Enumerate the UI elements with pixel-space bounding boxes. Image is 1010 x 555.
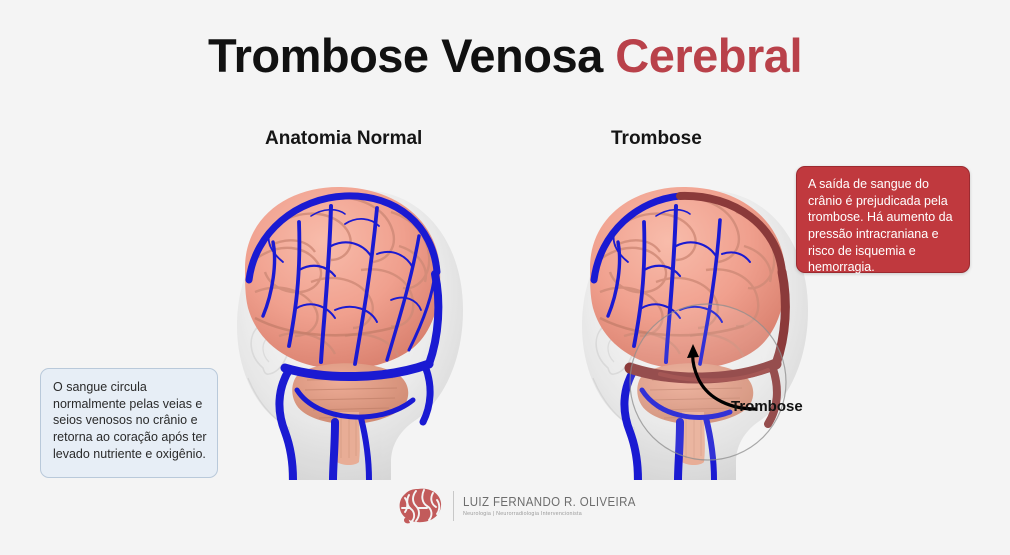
page-title: Trombose Venosa Cerebral [0,28,1010,83]
brainstem [336,412,360,465]
callout-thrombosis-consequences: A saída de sangue do crânio é prejudicad… [796,166,970,273]
brain-logo-icon [396,486,444,526]
panel-caption-thrombosis: Trombose [611,128,702,150]
logo-subtitle: Neurologia | Neurorradiologia Intervenci… [463,511,641,517]
title-main: Trombose Venosa [208,29,603,82]
logo-divider [453,491,454,521]
callout-normal-circulation: O sangue circula normalmente pelas veias… [40,368,218,478]
cerebral-venous-thrombosis-illustration [530,150,830,480]
logo-name: LUIZ FERNANDO R. OLIVEIRA [463,495,636,509]
callout-red-text: A saída de sangue do crânio é prejudicad… [808,177,953,274]
infographic-canvas: Trombose Venosa Cerebral Anatomia Normal… [0,0,1010,555]
callout-blue-text: O sangue circula normalmente pelas veias… [53,380,207,461]
panel-caption-normal: Anatomia Normal [265,128,422,150]
thrombose-annotation-label: Trombose [731,398,803,415]
logo-text-block: LUIZ FERNANDO R. OLIVEIRA Neurologia | N… [463,495,651,517]
brand-logo: LUIZ FERNANDO R. OLIVEIRA Neurologia | N… [396,483,616,529]
normal-venous-anatomy-illustration [185,150,485,480]
title-accent: Cerebral [615,29,802,82]
